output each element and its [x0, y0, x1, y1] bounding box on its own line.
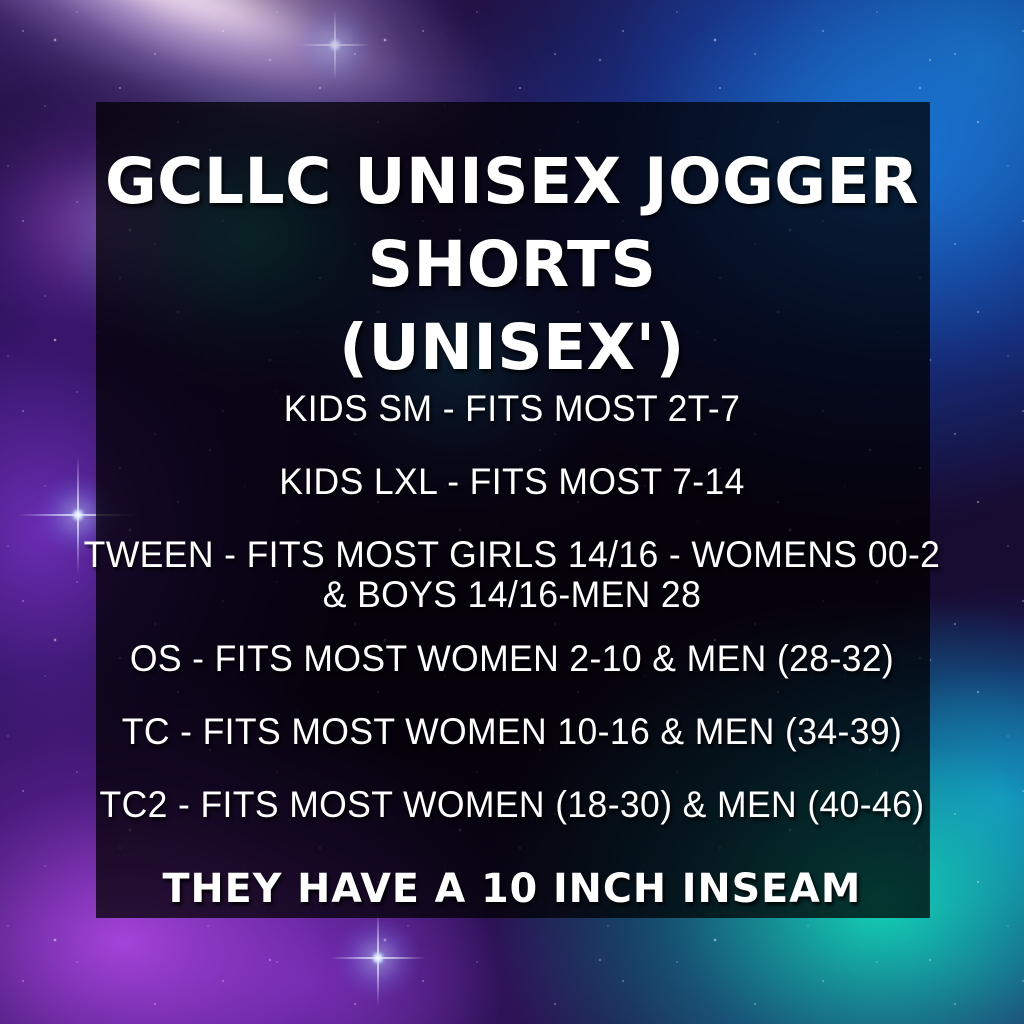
size-row-kids-lxl: KIDS LXL - FITS MOST 7-14 [42, 462, 983, 502]
size-row-text: TWEEN - FITS MOST GIRLS 14/16 - WOMENS 0… [84, 534, 941, 575]
size-row-text: KIDS LXL - FITS MOST 7-14 [279, 461, 745, 502]
poster-content: GCLLC UNISEX JOGGER SHORTS (UNISEX') KID… [0, 0, 1024, 1024]
size-row-text: OS - FITS MOST WOMEN 2-10 & MEN (28-32) [130, 638, 894, 679]
poster-title: GCLLC UNISEX JOGGER SHORTS (UNISEX') [32, 140, 992, 389]
size-row-text: TC - FITS MOST WOMEN 10-16 & MEN (34-39) [122, 711, 902, 752]
size-row-text-line2: & BOYS 14/16-MEN 28 [42, 575, 983, 615]
inseam-note: THEY HAVE A 10 INCH INSEAM [163, 866, 862, 912]
size-row-os: OS - FITS MOST WOMEN 2-10 & MEN (28-32) [42, 639, 983, 679]
title-line-1: GCLLC UNISEX JOGGER SHORTS [105, 145, 919, 301]
poster-canvas: GCLLC UNISEX JOGGER SHORTS (UNISEX') KID… [0, 0, 1024, 1024]
size-row-tc2: TC2 - FITS MOST WOMEN (18-30) & MEN (40-… [42, 785, 983, 825]
size-row-tc: TC - FITS MOST WOMEN 10-16 & MEN (34-39) [42, 712, 983, 752]
size-row-tween: TWEEN - FITS MOST GIRLS 14/16 - WOMENS 0… [42, 535, 983, 615]
title-line-2: (UNISEX') [32, 306, 992, 389]
size-row-text: TC2 - FITS MOST WOMEN (18-30) & MEN (40-… [99, 784, 924, 825]
size-row-kids-sm: KIDS SM - FITS MOST 2T-7 [42, 389, 983, 429]
size-chart-list: KIDS SM - FITS MOST 2T-7 KIDS LXL - FITS… [22, 389, 1002, 858]
size-row-text: KIDS SM - FITS MOST 2T-7 [284, 388, 741, 429]
